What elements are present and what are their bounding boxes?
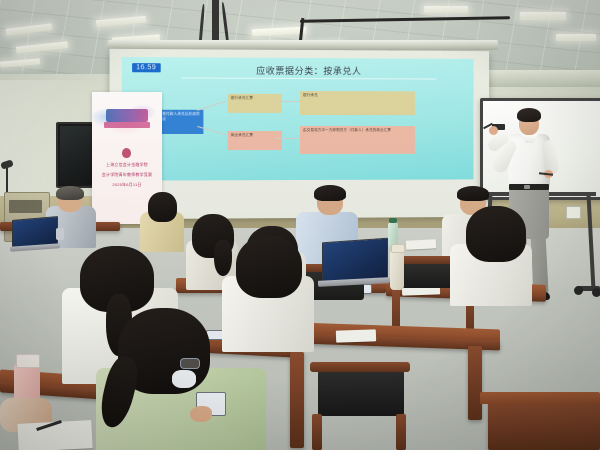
attendee-hair (236, 236, 302, 298)
attendee-hand (190, 406, 212, 422)
av-control-panel[interactable] (9, 200, 42, 213)
bottle-cap-icon (16, 354, 40, 368)
banner-headline (106, 109, 148, 122)
eyeglasses-icon (180, 358, 200, 369)
presenter-hand (489, 126, 498, 135)
paper-sheet (336, 329, 376, 342)
water-bottle[interactable] (390, 250, 404, 290)
face-mask (172, 370, 196, 388)
chair-back (318, 370, 404, 416)
wall-outlet (566, 206, 581, 219)
connector-line (197, 101, 226, 111)
slide-time-badge: 16.59 (132, 63, 160, 72)
attendee-hair (148, 192, 177, 222)
belt-buckle-icon (524, 185, 530, 189)
presenter-hair (517, 108, 541, 122)
slide-node-commercial: 商业承兑汇票 (228, 131, 282, 150)
slide-node-bank: 银行承兑汇票 (228, 94, 282, 113)
lanyard-badge (56, 228, 64, 240)
banner-seal-icon (122, 148, 131, 158)
paper-sheet (406, 239, 436, 250)
attendee-hair (56, 186, 84, 200)
caster-wheel-icon (592, 288, 600, 297)
caster-wheel-icon (574, 286, 583, 295)
chair-frame (310, 362, 410, 372)
classroom-photo: 16.59 应收票据分类：按承兑人 应收票据：是付款人承兑后形成的一种债权凭证 … (0, 0, 600, 450)
desk (488, 400, 600, 450)
desk-top (480, 392, 600, 404)
attendee-hair (457, 186, 489, 201)
bottle-cap-icon (391, 244, 405, 253)
connector-line (276, 138, 300, 139)
slide-title-rule (181, 77, 436, 79)
attendee-ponytail (214, 240, 232, 276)
monitor-screen (60, 126, 94, 184)
attendee-hair (314, 185, 346, 201)
chair-leg (312, 414, 322, 450)
connector-line (276, 101, 300, 102)
slide-node-commercial-desc: 由交易双方中一方即购货方（付款人）承兑的商业汇票 (300, 126, 415, 154)
banner-line-3: 2025年6月11日 (92, 182, 162, 188)
ceiling-light-panel (424, 6, 468, 13)
desk-leg (290, 352, 304, 448)
banner-subhead (104, 122, 150, 128)
chair-leg (396, 414, 406, 450)
ceiling-light-panel (520, 12, 566, 20)
desk-leg (468, 346, 482, 420)
attendee-hair (466, 206, 526, 262)
slide-node-bank-desc: 银行承兑 (300, 91, 415, 115)
bottle-cap-icon (389, 218, 397, 223)
banner-line-2: 会计学院青年教师教学竞赛 (92, 172, 162, 178)
ceiling-light-panel (556, 34, 596, 41)
slide-canvas: 16.59 应收票据分类：按承兑人 应收票据：是付款人承兑后形成的一种债权凭证 … (122, 57, 474, 181)
slide-title: 应收票据分类：按承兑人 (193, 63, 422, 77)
banner-line-1: 上海立信会计金融学院 (92, 162, 162, 168)
